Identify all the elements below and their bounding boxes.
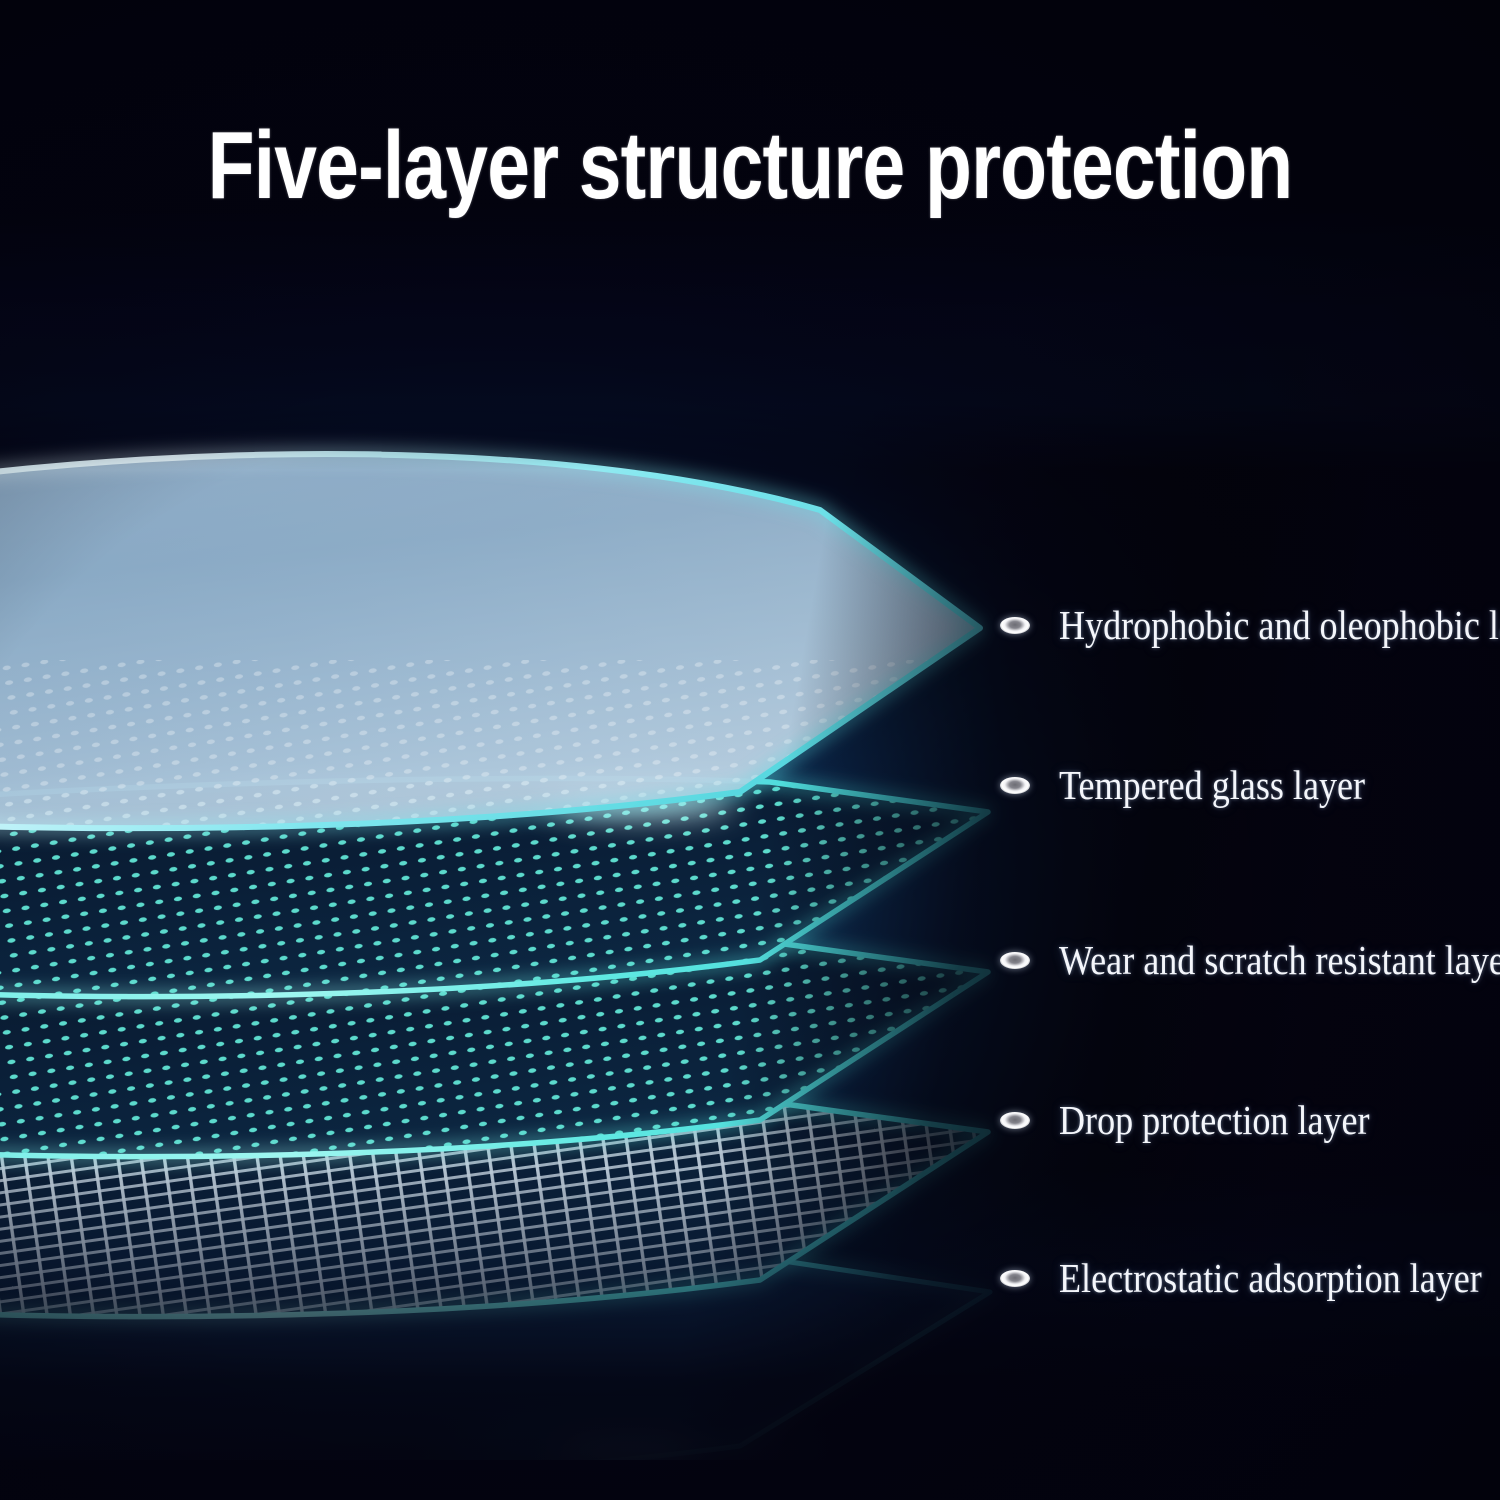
oval-bullet-icon xyxy=(1000,617,1030,634)
layer-label-text: Electrostatic adsorption layer xyxy=(1059,1254,1482,1302)
oval-bullet-icon xyxy=(1000,1270,1030,1287)
layer-label-text: Hydrophobic and oleophobic layer xyxy=(1059,601,1500,649)
layer-label-tempered-glass[interactable]: Tempered glass layer xyxy=(1000,759,1407,811)
layer-label-electrostatic-adsorption[interactable]: Electrostatic adsorption layer xyxy=(1000,1252,1500,1304)
oval-bullet-icon xyxy=(1000,1112,1030,1129)
layer-label-hydrophobic-and-oleophobic[interactable]: Hydrophobic and oleophobic layer xyxy=(1000,599,1500,651)
layer-label-list: Hydrophobic and oleophobic layer Tempere… xyxy=(1000,0,1500,1500)
layer-label-text: Drop protection layer xyxy=(1059,1096,1370,1144)
layer-label-text: Tempered glass layer xyxy=(1059,761,1365,809)
oval-bullet-icon xyxy=(1000,777,1030,794)
layer-label-drop-protection[interactable]: Drop protection layer xyxy=(1000,1094,1412,1146)
layer-label-text: Wear and scratch resistant layer xyxy=(1059,936,1500,984)
oval-bullet-icon xyxy=(1000,952,1030,969)
five-layer-protection-graphic: Five-layer structure protection Hydropho… xyxy=(0,0,1500,1500)
layer-label-wear-and-scratch-resistant[interactable]: Wear and scratch resistant layer xyxy=(1000,934,1500,986)
